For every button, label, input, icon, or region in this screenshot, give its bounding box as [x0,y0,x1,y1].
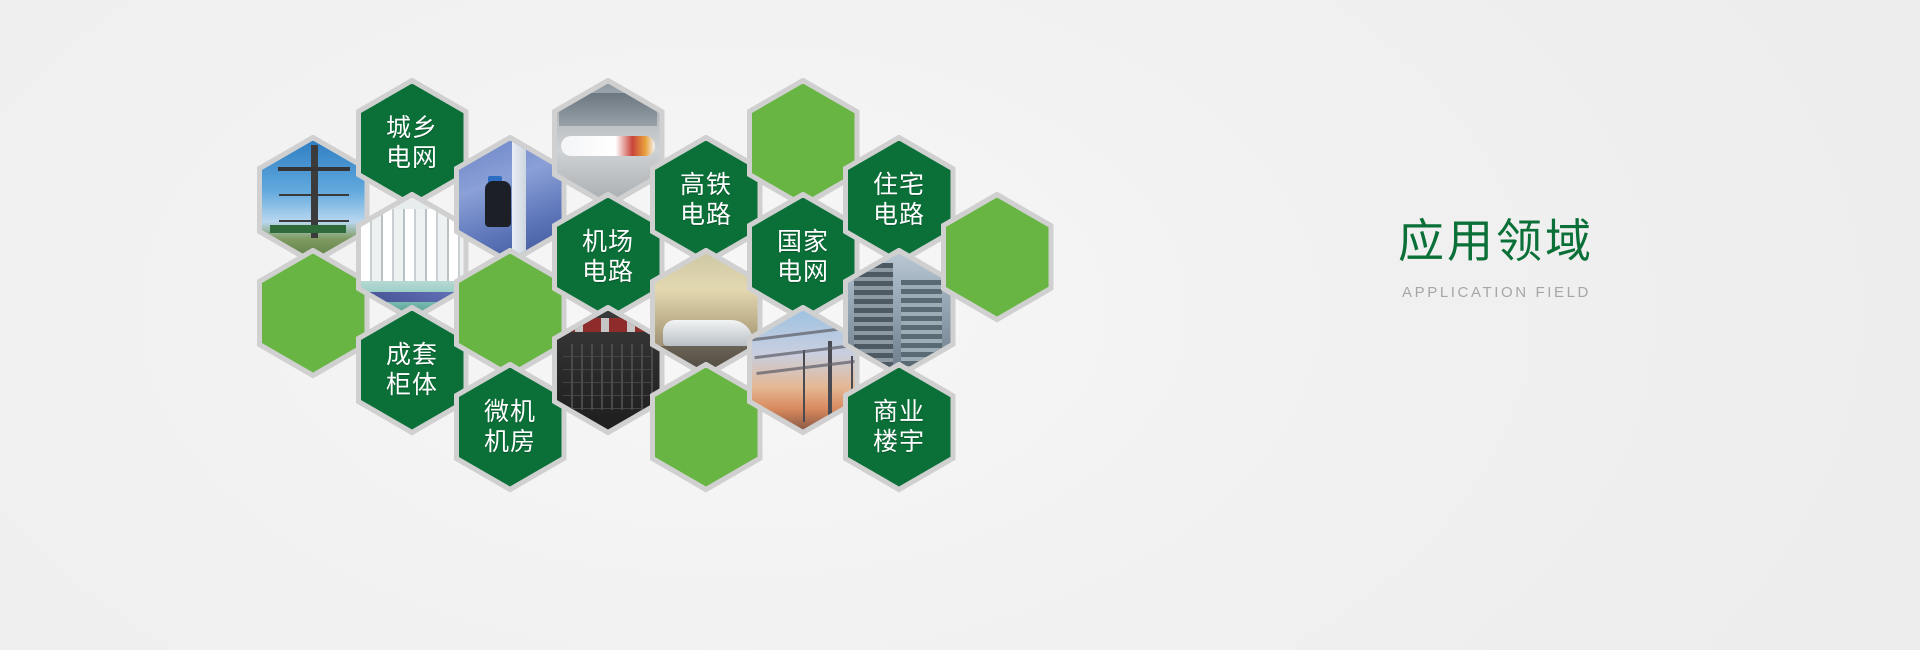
hex-cell-complete-cabinet[interactable]: 成套 柜体 [356,305,469,436]
hex-label-computer-room: 微机 机房 [484,397,536,457]
hex-label-complete-cabinet: 成套 柜体 [386,340,438,400]
hex-inner-train-photo [655,254,758,373]
hex-label-commercial: 商业 楼宇 [873,397,925,457]
hex-inner-pole-photo [262,141,365,260]
hex-label-state-grid: 国家 电网 [777,227,829,287]
hex-label-hsr-circuit: 高铁 电路 [680,170,732,230]
hex-inner-worker-photo [459,141,562,260]
hex-inner-light-2 [459,254,562,373]
page-subtitle: APPLICATION FIELD [1402,284,1838,301]
hex-inner-computer-room: 微机 机房 [459,368,562,487]
hex-inner-light-5 [946,198,1049,317]
lineman-worker-photo [459,141,562,260]
residential-towers-photo [848,254,951,373]
hex-inner-commercial: 商业 楼宇 [848,368,951,487]
application-field-banner: 城乡 电网成套 柜体微机 机房机场 电路高铁 电路国家 电网住宅 电路商业 楼宇… [0,0,1920,650]
hex-cell-pole-photo[interactable] [257,135,370,266]
hex-inner-light-1 [262,254,365,373]
hex-inner-urban-rural-grid: 城乡 电网 [361,84,464,203]
hex-inner-sunset-photo [752,311,855,430]
sunset-pylon-photo [752,311,855,430]
hex-inner-buildings-photo [848,254,951,373]
hex-label-urban-rural-grid: 城乡 电网 [386,113,438,173]
hex-cell-airport-photo[interactable] [552,78,665,209]
hex-cell-switchgear-photo[interactable] [552,305,665,436]
hex-cell-urban-rural-grid[interactable]: 城乡 电网 [356,78,469,209]
hex-cell-computer-room[interactable]: 微机 机房 [454,362,567,493]
hex-inner-complete-cabinet: 成套 柜体 [361,311,464,430]
hex-inner-light-3 [655,368,758,487]
page-title: 应用领域 [1398,212,1838,270]
hex-label-residential: 住宅 电路 [873,170,925,230]
hex-label-airport-circuit: 机场 电路 [582,227,634,287]
hex-cell-cabinet-photo[interactable] [356,192,469,323]
hex-inner-airport-circuit: 机场 电路 [557,198,660,317]
hex-inner-light-4 [752,84,855,203]
control-panel-photo [557,311,660,430]
honeycomb-hexagon-grid: 城乡 电网成套 柜体微机 机房机场 电路高铁 电路国家 电网住宅 电路商业 楼宇 [0,0,1250,650]
hex-cell-light-5[interactable] [941,192,1054,323]
title-block: 应用领域 APPLICATION FIELD [1398,212,1838,301]
hex-inner-airport-photo [557,84,660,203]
hex-cell-train-photo[interactable] [650,248,763,379]
hex-inner-switchgear-photo [557,311,660,430]
high-speed-train-photo [655,254,758,373]
hex-inner-state-grid: 国家 电网 [752,198,855,317]
hex-cell-worker-photo[interactable] [454,135,567,266]
switchgear-hall-photo [361,198,464,317]
utility-pole-photo [262,141,365,260]
hex-cell-light-3[interactable] [650,362,763,493]
hex-cell-hsr-circuit[interactable]: 高铁 电路 [650,135,763,266]
hex-inner-residential: 住宅 电路 [848,141,951,260]
hex-inner-hsr-circuit: 高铁 电路 [655,141,758,260]
hex-cell-light-1[interactable] [257,248,370,379]
airport-apron-photo [557,84,660,203]
hex-inner-cabinet-photo [361,198,464,317]
hex-cell-airport-circuit[interactable]: 机场 电路 [552,192,665,323]
hex-cell-light-2[interactable] [454,248,567,379]
